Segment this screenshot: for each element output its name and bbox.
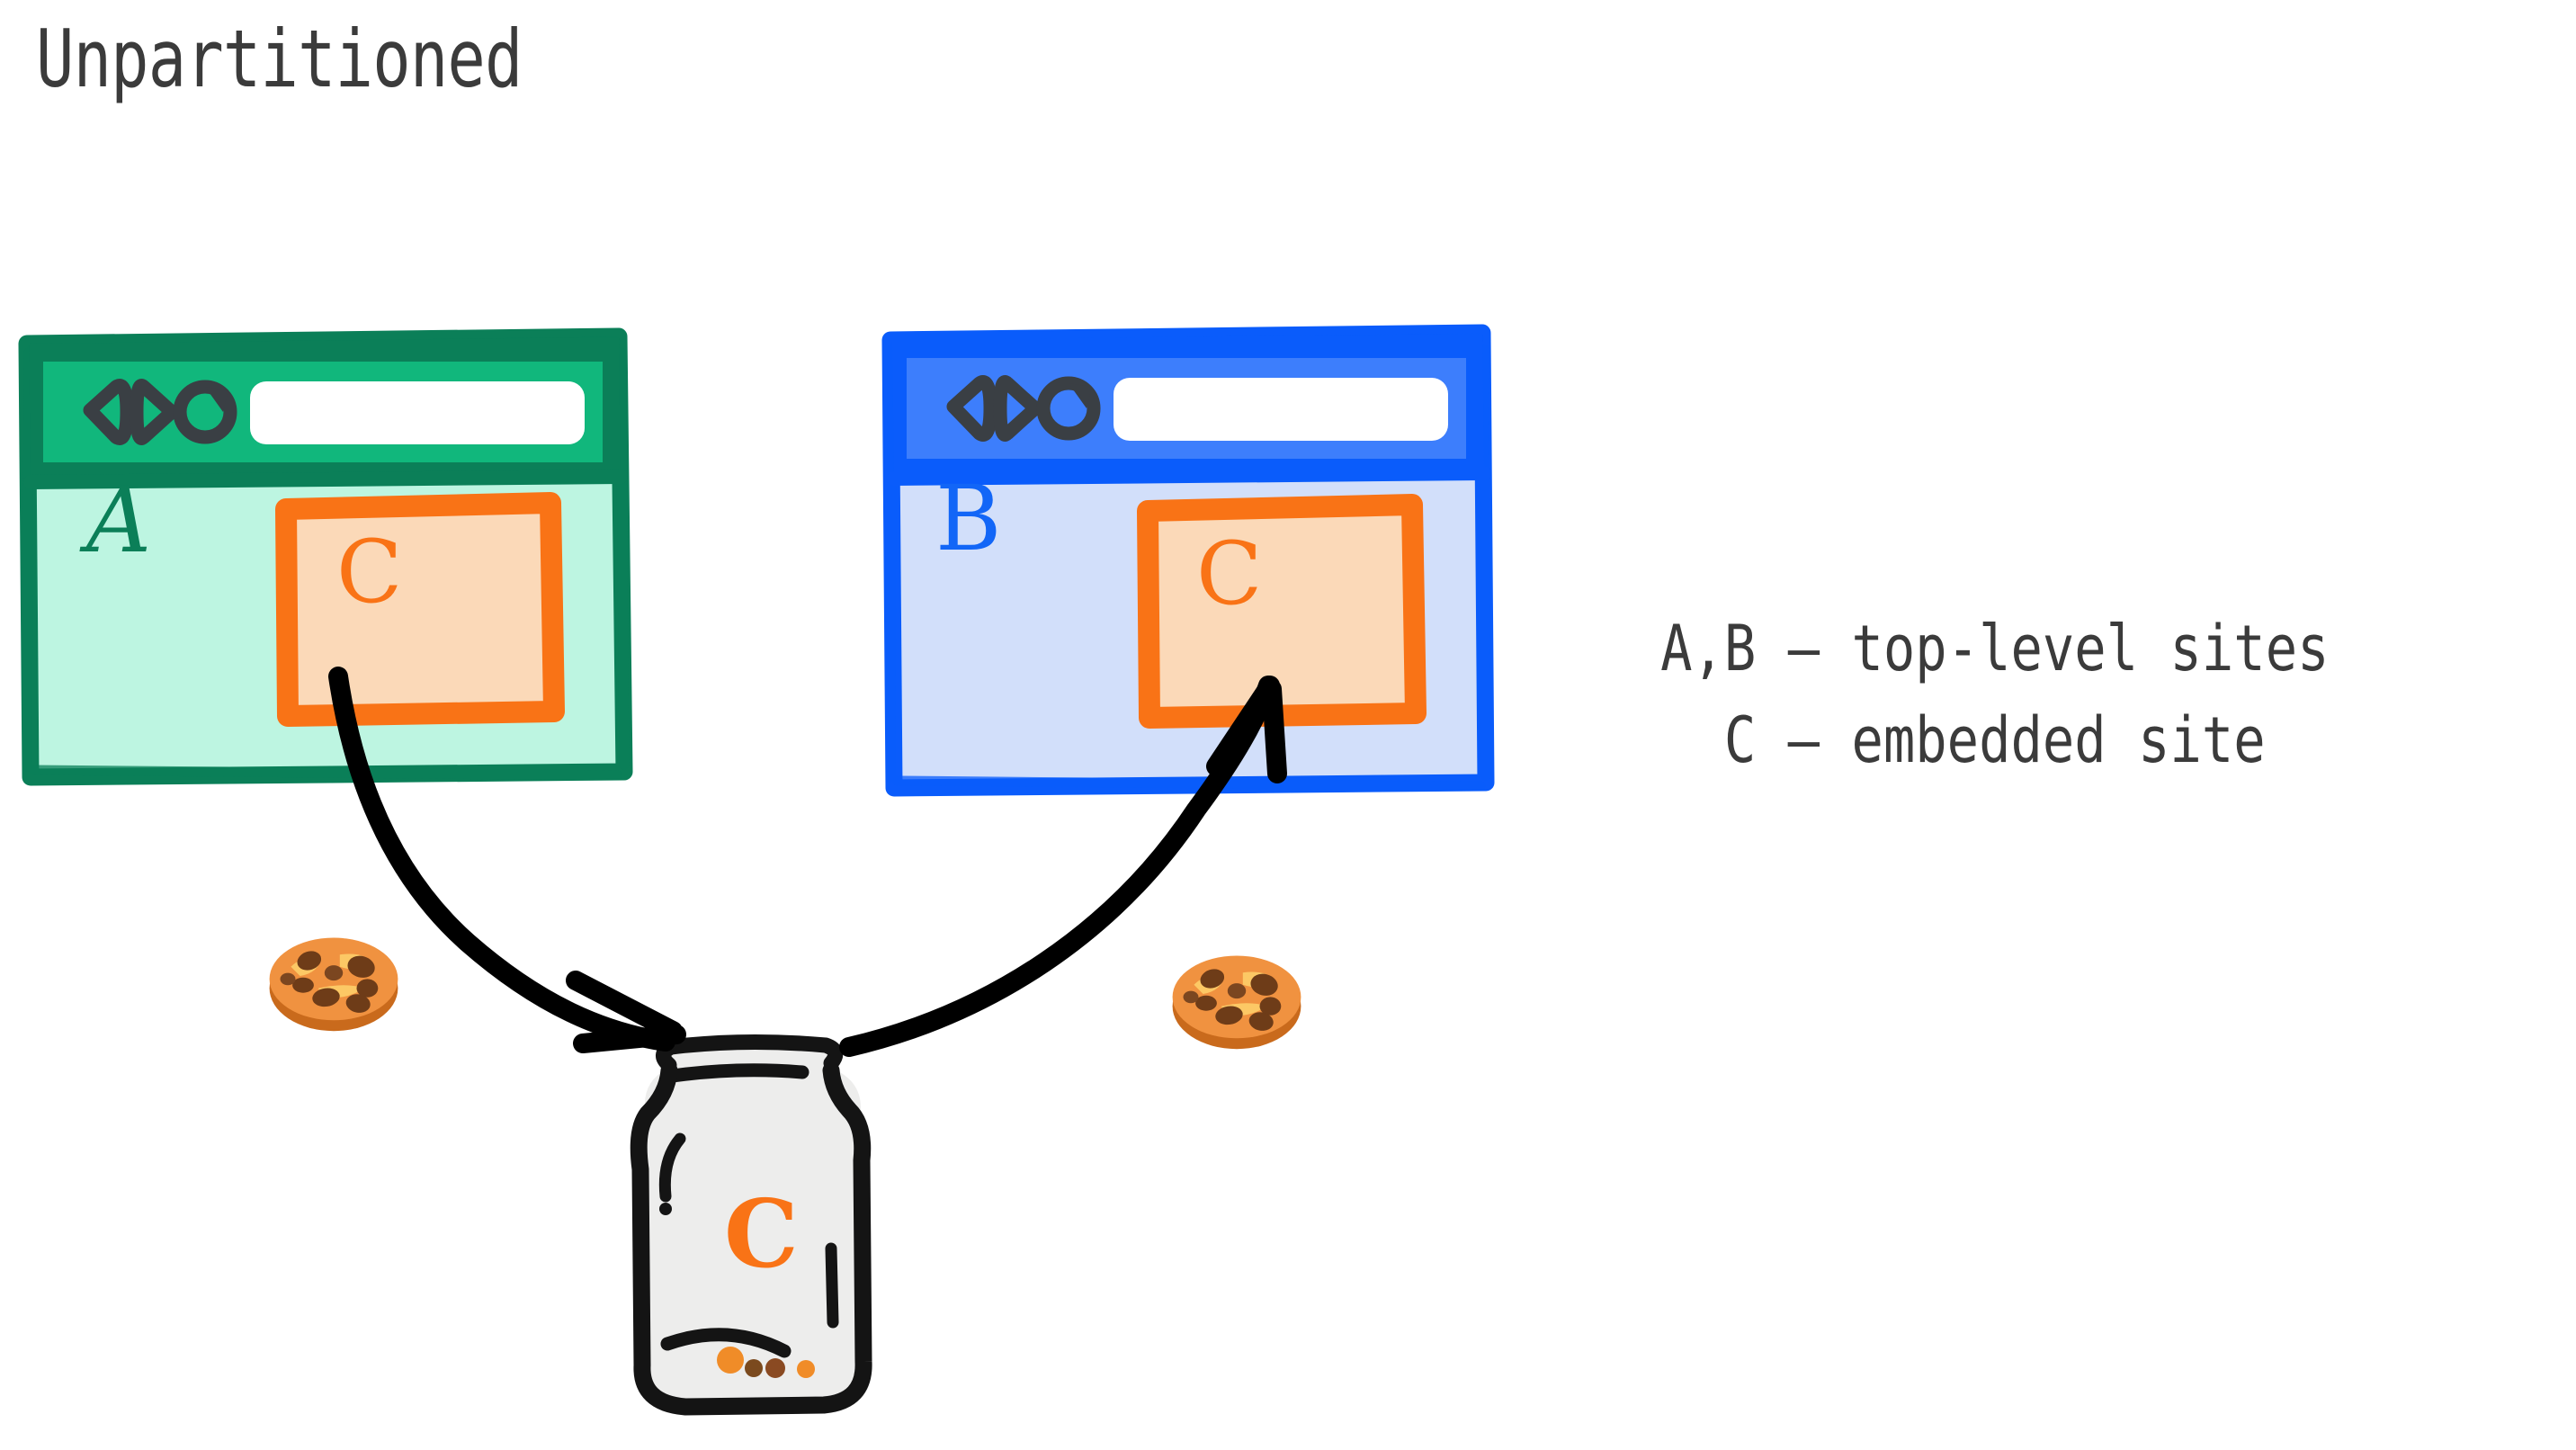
window-a-url-bar[interactable] bbox=[250, 381, 585, 444]
legend-line-top-level: A,B – top-level sites bbox=[1583, 603, 2407, 694]
window-b-url-bar[interactable] bbox=[1114, 378, 1448, 441]
window-b-toolbar-divider bbox=[894, 473, 1484, 479]
window-b[interactable] bbox=[890, 333, 1486, 788]
cookie-jar-neck bbox=[673, 1070, 802, 1076]
window-a[interactable] bbox=[27, 336, 624, 777]
cookie-icon bbox=[1160, 917, 1313, 1070]
legend: A,B – top-level sites C – embedded site bbox=[1583, 603, 2407, 786]
cookie-jar-highlight-right bbox=[831, 1249, 833, 1322]
cookie-jar[interactable] bbox=[639, 1040, 865, 1410]
cookie-icon bbox=[257, 900, 410, 1052]
window-a-embedded-frame[interactable] bbox=[286, 503, 554, 716]
legend-line-embedded: C – embedded site bbox=[1583, 694, 2407, 786]
diagram-canvas: Unpartitioned bbox=[0, 0, 2576, 1450]
window-a-toolbar-divider bbox=[31, 477, 621, 482]
window-b-embedded-frame[interactable] bbox=[1148, 505, 1416, 718]
